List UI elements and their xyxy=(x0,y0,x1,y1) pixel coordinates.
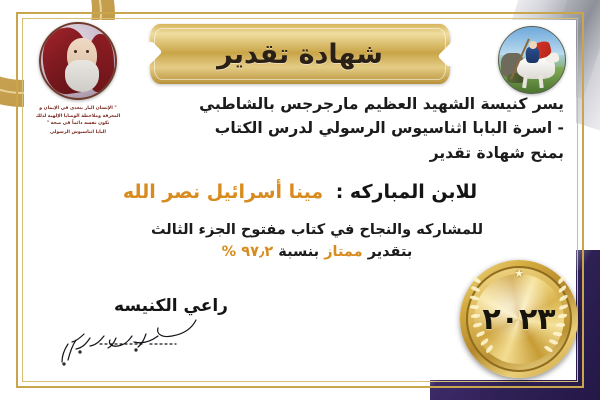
body-line-3: بمنح شهادة تقدير xyxy=(120,141,564,165)
body-line-1: يسر كنيسة الشهيد العظيم مارجرجس بالشاطبي xyxy=(120,92,564,116)
pope-quote-attribution: البابا اثناسيوس الرسولي xyxy=(30,130,126,135)
pope-quote-text: " الإنسان البار يتغذى في الإيمان و المعر… xyxy=(30,105,126,128)
recipient-line: للابن المباركه : مينا أسرائيل نصر الله xyxy=(36,181,564,203)
grade-prefix: بتقدير xyxy=(368,244,413,260)
percent-symbol: % xyxy=(222,244,237,260)
recipient-label: للابن المباركه : xyxy=(336,181,477,203)
percent-value: ٩٧٫٢ xyxy=(241,244,273,260)
certificate-body: يسر كنيسة الشهيد العظيم مارجرجس بالشاطبي… xyxy=(120,92,564,165)
certificate-page: شهادة تقدير " الإنسان البار يتغذى في الإ… xyxy=(0,0,600,400)
pope-portrait-icon xyxy=(39,22,117,100)
saint-george-icon xyxy=(498,26,566,94)
achievement-grade-line: بتقدير ممتاز بنسبة ٩٧٫٢ % xyxy=(70,244,564,260)
pope-emblem: " الإنسان البار يتغذى في الإيمان و المعر… xyxy=(30,22,126,135)
medal-year-text: ٢٠٢٣ xyxy=(460,260,578,378)
body-line-2: - اسرة البابا اثناسيوس الرسولي لدرس الكت… xyxy=(120,116,564,140)
grade-value: ممتاز xyxy=(324,244,362,260)
signature-block: راعي الكنيسه xyxy=(46,296,296,366)
title-banner: شهادة تقدير xyxy=(150,24,450,84)
handwritten-signatures xyxy=(46,314,296,366)
percent-prefix: بنسبة xyxy=(278,244,319,260)
achievement-block: للمشاركه والنجاح في كتاب مفتوح الجزء الث… xyxy=(70,222,564,260)
signature-title: راعي الكنيسه xyxy=(46,296,296,316)
achievement-description: للمشاركه والنجاح في كتاب مفتوح الجزء الث… xyxy=(70,222,564,238)
year-medal: ★ ٢٠٢٣ xyxy=(460,260,578,378)
certificate-title: شهادة تقدير xyxy=(150,24,450,84)
recipient-name: مينا أسرائيل نصر الله xyxy=(123,181,323,203)
